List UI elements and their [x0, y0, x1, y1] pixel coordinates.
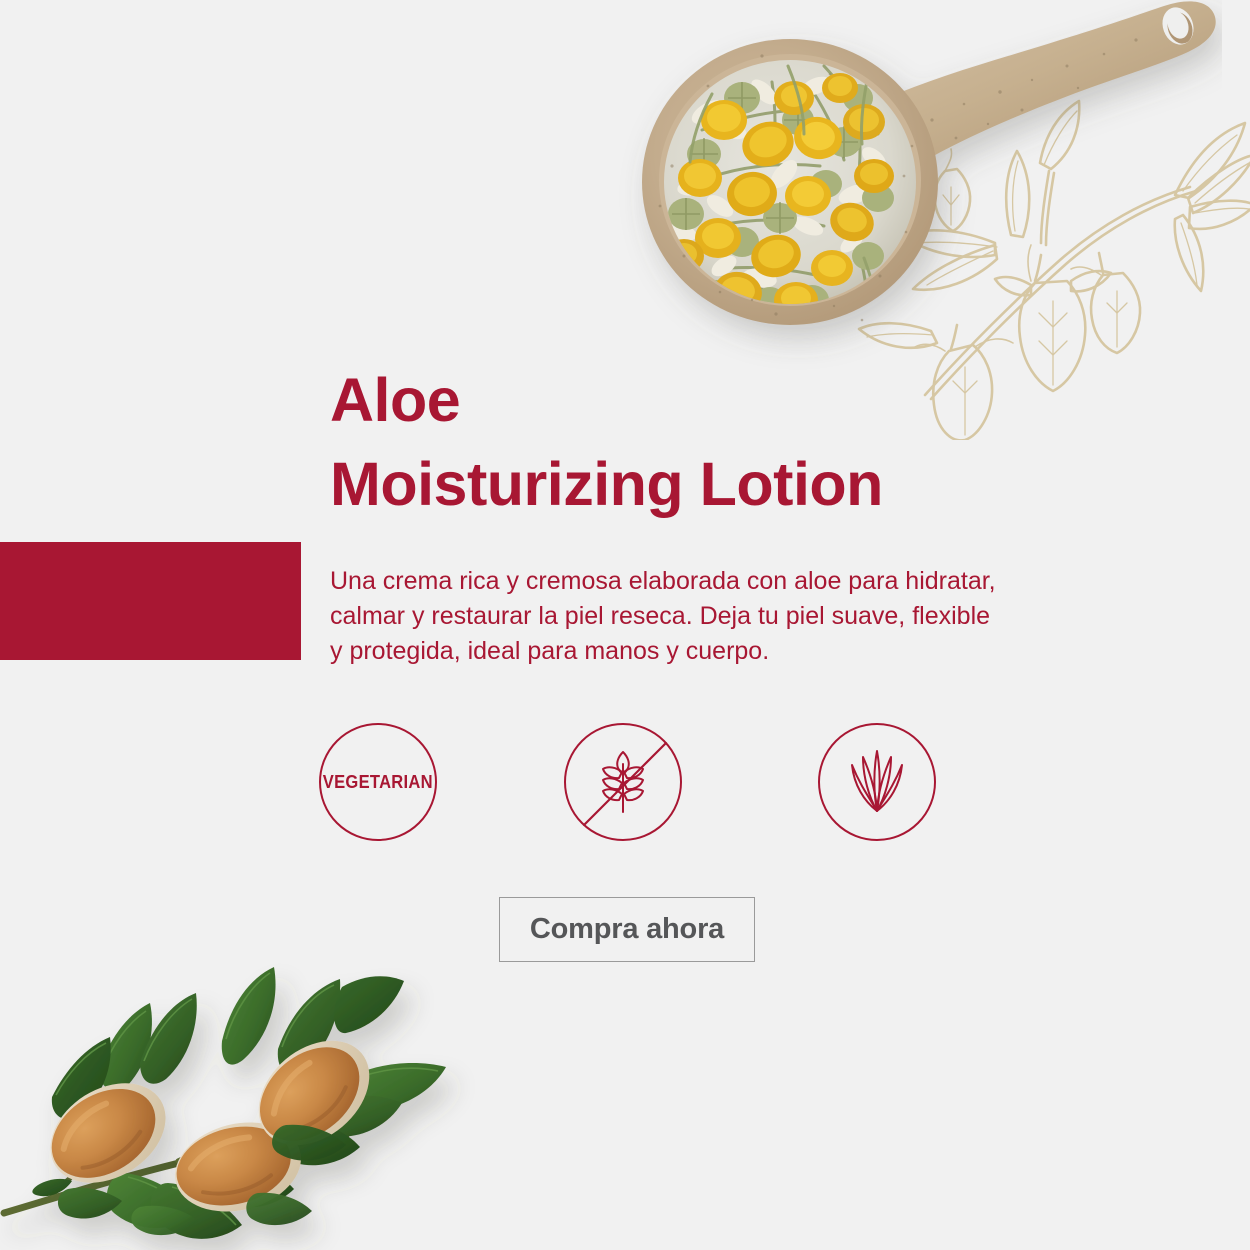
description-line-1: Una crema rica y cremosa elaborada con a… — [330, 564, 1090, 599]
description-line-3: y protegida, ideal para manos y cuerpo. — [330, 634, 1090, 669]
badge-vegetarian[interactable]: VEGETARIAN — [319, 723, 437, 841]
buy-now-label: Compra ahora — [530, 913, 724, 946]
accent-block — [0, 542, 301, 660]
badge-row: VEGETARIAN — [319, 723, 999, 843]
vegetarian-label: VEGETARIAN — [323, 772, 433, 793]
page-title-line1: Aloe — [330, 358, 1050, 442]
badge-aloe[interactable] — [818, 723, 936, 841]
no-gluten-wheat-icon — [583, 742, 663, 822]
aloe-plant-icon — [838, 743, 916, 821]
product-banner: Aloe Moisturizing Lotion Una crema rica … — [0, 0, 1250, 1250]
page-title-line2: Moisturizing Lotion — [330, 442, 1050, 526]
product-description: Una crema rica y cremosa elaborada con a… — [330, 564, 1090, 669]
description-line-2: calmar y restaurar la piel reseca. Deja … — [330, 599, 1090, 634]
text-column: Aloe Moisturizing Lotion Una crema rica … — [330, 358, 1050, 669]
argan-branch-photo — [0, 945, 510, 1250]
chamomile-spoon-photo — [612, 0, 1222, 380]
buy-now-button[interactable]: Compra ahora — [499, 897, 755, 962]
badge-gluten-free[interactable] — [564, 723, 682, 841]
